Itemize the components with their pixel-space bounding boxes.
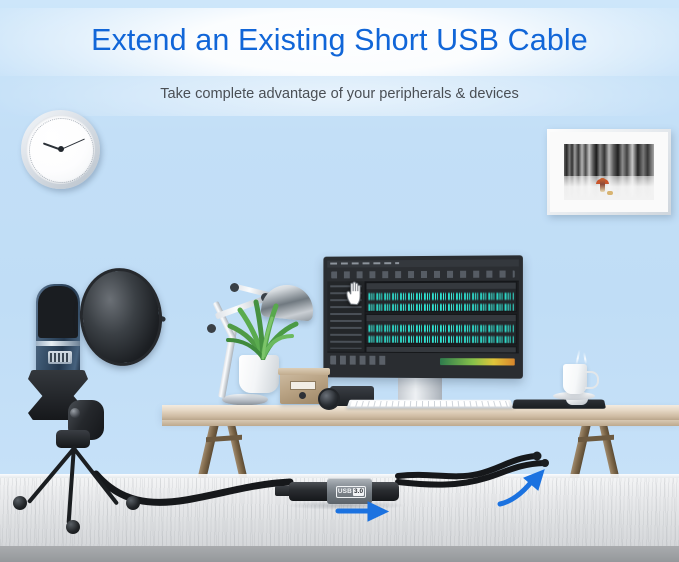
potted-plant — [226, 296, 300, 360]
daw-waveform-2b — [368, 335, 513, 344]
daw-waveform-1a — [368, 292, 513, 301]
lamp-joint-lower — [207, 324, 216, 333]
arrow-toward-cable-end-icon — [496, 468, 554, 508]
cable-end-a — [533, 452, 542, 461]
tripod-foot-left — [13, 496, 27, 510]
keyboard-keys — [350, 401, 510, 407]
keyboard[interactable] — [346, 400, 513, 409]
lamp-joint-mid — [230, 283, 239, 292]
clock-center-pin — [58, 146, 64, 152]
photo-snow-ground — [564, 176, 654, 200]
cable-end-b — [541, 459, 549, 467]
framed-picture — [547, 129, 671, 215]
storage-box-lid — [278, 368, 330, 375]
daw-waveform-1b — [368, 303, 513, 312]
daw-track-2-header — [366, 315, 515, 321]
microphone-grille — [38, 286, 78, 338]
daw-track-1-header — [366, 283, 515, 290]
storage-box-knob — [299, 392, 306, 399]
tripod-foot-right — [126, 496, 140, 510]
monitor-screen — [327, 259, 519, 369]
plant-pot — [239, 355, 279, 393]
desk-edge — [162, 420, 679, 426]
tripod-foot-center — [66, 520, 80, 534]
wall-clock — [21, 110, 100, 189]
daw-level-meter — [440, 358, 515, 365]
product-marketing-image: Extend an Existing Short USB Cable Take … — [0, 0, 679, 562]
arrow-toward-device-icon — [336, 500, 396, 526]
usb-condenser-microphone — [8, 262, 158, 538]
microphone-trim-ring — [36, 341, 80, 346]
daw-track-2[interactable] — [366, 314, 517, 344]
adapter-label-version: 3.0 — [353, 488, 364, 495]
mousepad — [512, 400, 606, 409]
floor-baseboard — [0, 546, 679, 562]
headline-title: Extend an Existing Short USB Cable — [0, 23, 679, 58]
desktop-monitor — [323, 255, 523, 378]
camera-lens — [318, 388, 340, 410]
photo-dog — [607, 191, 613, 195]
daw-waveform-2a — [368, 324, 513, 333]
photo-figure — [600, 178, 605, 192]
microphone-control-panel[interactable] — [48, 351, 72, 364]
cityscape-photo — [564, 144, 654, 200]
mug-handle — [585, 371, 599, 389]
pop-filter — [75, 264, 167, 370]
adapter-usb-label: USB 3.0 — [336, 486, 366, 498]
headline-subtitle: Take complete advantage of your peripher… — [0, 86, 679, 102]
adapter-label-usb: USB — [338, 489, 352, 495]
storage-box-label — [290, 381, 316, 390]
daw-track-1[interactable] — [366, 282, 517, 312]
coffee-mug — [563, 364, 587, 394]
hand-cursor-icon — [345, 280, 365, 306]
daw-transport-bar[interactable] — [327, 352, 519, 370]
mount-tension-knob[interactable] — [70, 408, 80, 418]
tripod-leg-left — [70, 445, 119, 506]
lamp-base — [222, 394, 268, 405]
picture-mat — [550, 132, 668, 212]
